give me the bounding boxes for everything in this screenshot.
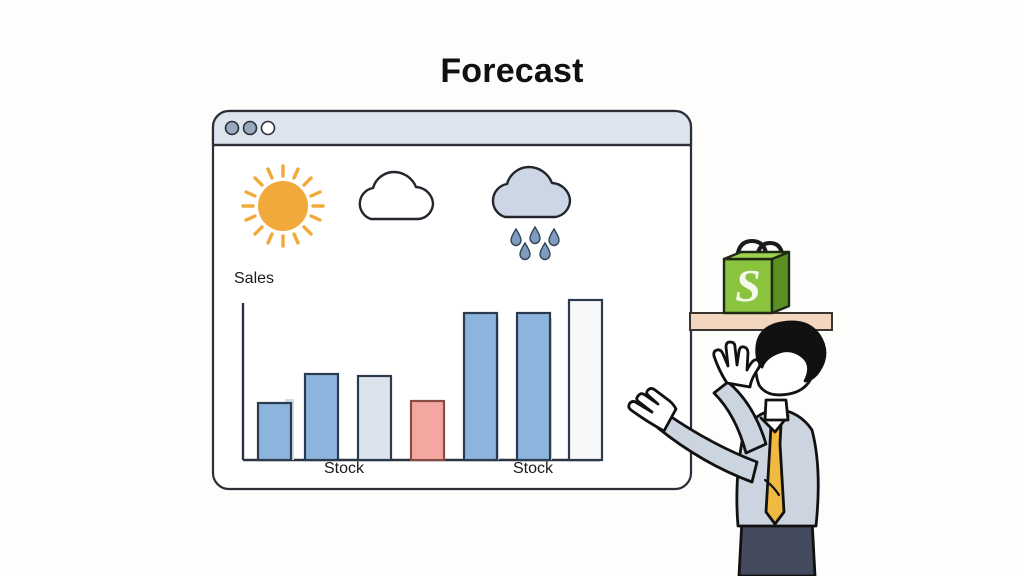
chart-x-tick-label-2: Stock bbox=[513, 460, 553, 478]
shopping-bag-letter: S bbox=[735, 260, 761, 311]
bar-2[interactable] bbox=[305, 374, 338, 460]
bar-4[interactable] bbox=[411, 401, 444, 460]
window-titlebar bbox=[213, 111, 691, 145]
bar-7[interactable] bbox=[569, 300, 602, 460]
bar-1[interactable] bbox=[258, 403, 291, 460]
bar-3[interactable] bbox=[358, 376, 391, 460]
person-neck bbox=[765, 400, 788, 420]
window-dot-2[interactable] bbox=[244, 122, 257, 135]
page-title: Forecast bbox=[0, 52, 1024, 91]
bar-6[interactable] bbox=[517, 313, 550, 460]
bar-5[interactable] bbox=[464, 313, 497, 460]
person-trousers bbox=[739, 520, 815, 576]
chart-x-tick-label-1: Stock bbox=[324, 460, 364, 478]
window-dot-1[interactable] bbox=[226, 122, 239, 135]
chart-y-axis-label: Sales bbox=[234, 270, 274, 288]
window-dot-3[interactable] bbox=[262, 122, 275, 135]
forecast-browser-window bbox=[213, 111, 691, 489]
